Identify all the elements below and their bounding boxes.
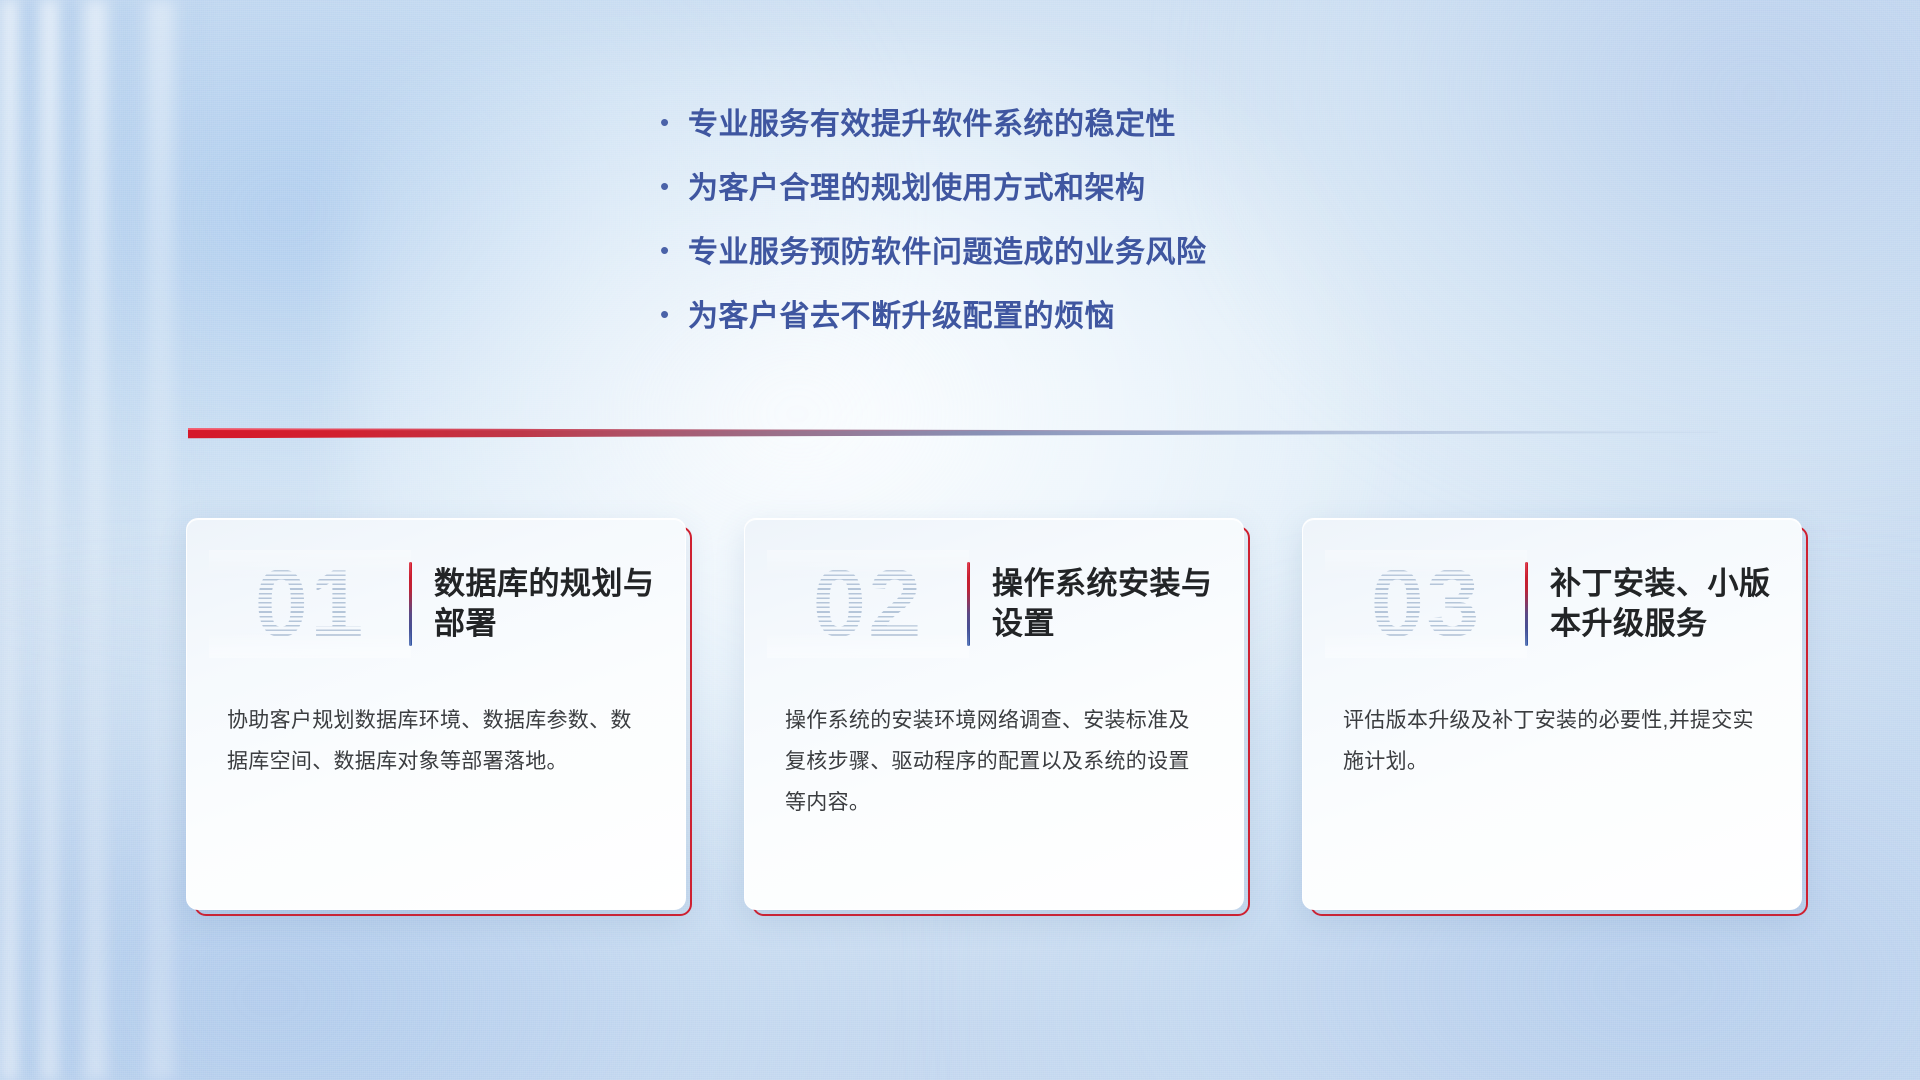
bullet-dot-icon: • xyxy=(660,109,688,135)
bullet-dot-icon: • xyxy=(660,301,688,327)
card-description: 评估版本升级及补丁安装的必要性,并提交实施计划。 xyxy=(1343,701,1767,783)
bullet-item-label: 为客户省去不断升级配置的烦恼 xyxy=(688,300,1115,333)
service-card[interactable]: 03 补丁安装、小版本升级服务 评估版本升级及补丁安装的必要性,并提交实施计划。 xyxy=(1302,518,1802,910)
card-header: 01 数据库的规划与部署 xyxy=(187,545,685,663)
card-title-divider xyxy=(967,562,970,646)
card-panel: 02 操作系统安装与设置 操作系统的安装环境网络调查、安装标准及复核步骤、驱动程… xyxy=(744,518,1244,910)
card-panel: 01 数据库的规划与部署 协助客户规划数据库环境、数据库参数、数据库空间、数据库… xyxy=(186,518,686,910)
card-number-watermark: 03 xyxy=(1331,556,1521,652)
service-card-list: 01 数据库的规划与部署 协助客户规划数据库环境、数据库参数、数据库空间、数据库… xyxy=(0,518,1920,928)
bullet-item: • 专业服务有效提升软件系统的稳定性 xyxy=(660,108,1420,172)
card-title: 补丁安装、小版本升级服务 xyxy=(1550,564,1782,643)
card-title: 操作系统安装与设置 xyxy=(992,564,1224,643)
bullet-item-label: 为客户合理的规划使用方式和架构 xyxy=(688,172,1146,205)
service-card[interactable]: 02 操作系统安装与设置 操作系统的安装环境网络调查、安装标准及复核步骤、驱动程… xyxy=(744,518,1244,910)
card-panel: 03 补丁安装、小版本升级服务 评估版本升级及补丁安装的必要性,并提交实施计划。 xyxy=(1302,518,1802,910)
bullet-dot-icon: • xyxy=(660,237,688,263)
card-title-divider xyxy=(409,562,412,646)
card-description: 协助客户规划数据库环境、数据库参数、数据库空间、数据库对象等部署落地。 xyxy=(227,701,651,783)
card-title: 数据库的规划与部署 xyxy=(434,564,666,643)
bullet-dot-icon: • xyxy=(660,173,688,199)
card-title-divider xyxy=(1525,562,1528,646)
card-number-watermark: 01 xyxy=(215,556,405,652)
bullet-item: • 为客户省去不断升级配置的烦恼 xyxy=(660,300,1420,364)
bullet-item-label: 专业服务有效提升软件系统的稳定性 xyxy=(688,108,1176,141)
bullet-item: • 专业服务预防软件问题造成的业务风险 xyxy=(660,236,1420,300)
benefits-bullet-list: • 专业服务有效提升软件系统的稳定性 • 为客户合理的规划使用方式和架构 • 专… xyxy=(660,108,1420,364)
bullet-item: • 为客户合理的规划使用方式和架构 xyxy=(660,172,1420,236)
card-header: 03 补丁安装、小版本升级服务 xyxy=(1303,545,1801,663)
card-description: 操作系统的安装环境网络调查、安装标准及复核步骤、驱动程序的配置以及系统的设置等内… xyxy=(785,701,1209,824)
bullet-item-label: 专业服务预防软件问题造成的业务风险 xyxy=(688,236,1207,269)
tapered-arrow-divider-icon xyxy=(188,424,1718,442)
service-card[interactable]: 01 数据库的规划与部署 协助客户规划数据库环境、数据库参数、数据库空间、数据库… xyxy=(186,518,686,910)
card-header: 02 操作系统安装与设置 xyxy=(745,545,1243,663)
card-number-watermark: 02 xyxy=(773,556,963,652)
